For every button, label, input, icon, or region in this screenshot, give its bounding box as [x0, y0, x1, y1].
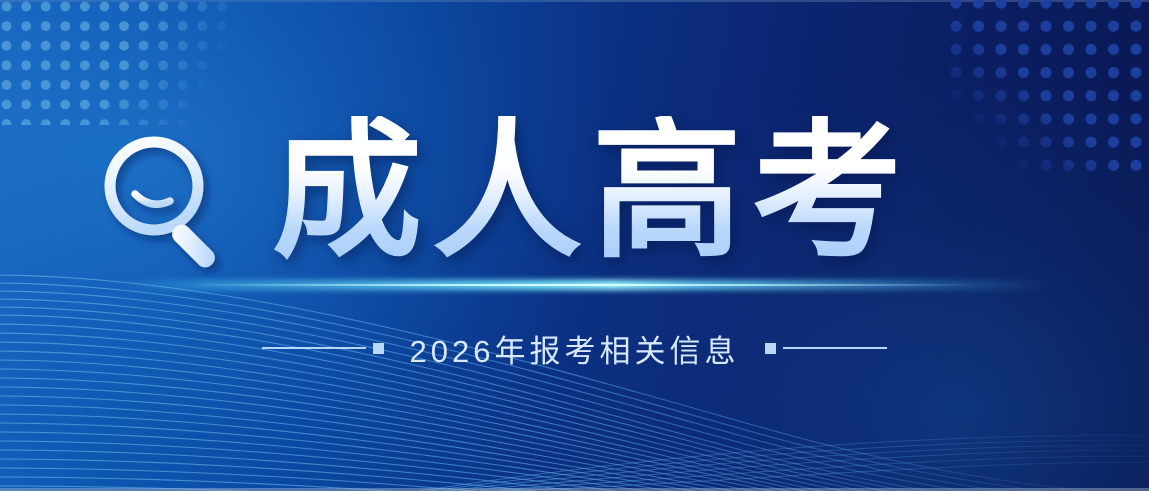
magnifier-icon — [92, 128, 242, 278]
dot-grid-top-right — [949, 0, 1149, 171]
top-edge-hairline — [0, 0, 1149, 2]
decoration-right — [765, 343, 887, 354]
right-rule — [783, 347, 887, 349]
dot-grid-top-left — [0, 0, 230, 125]
page-title: 成人高考 — [272, 116, 912, 266]
subtitle-row: 2026年报考相关信息 — [0, 322, 1149, 374]
title-underline-core — [190, 284, 980, 287]
right-square-marker — [765, 343, 776, 354]
promo-banner: 成人高考 2026年报考相关信息 — [0, 0, 1149, 491]
page-subtitle: 2026年报考相关信息 — [410, 326, 740, 371]
left-square-marker — [373, 343, 384, 354]
left-rule — [262, 347, 366, 349]
decoration-left — [262, 343, 384, 354]
